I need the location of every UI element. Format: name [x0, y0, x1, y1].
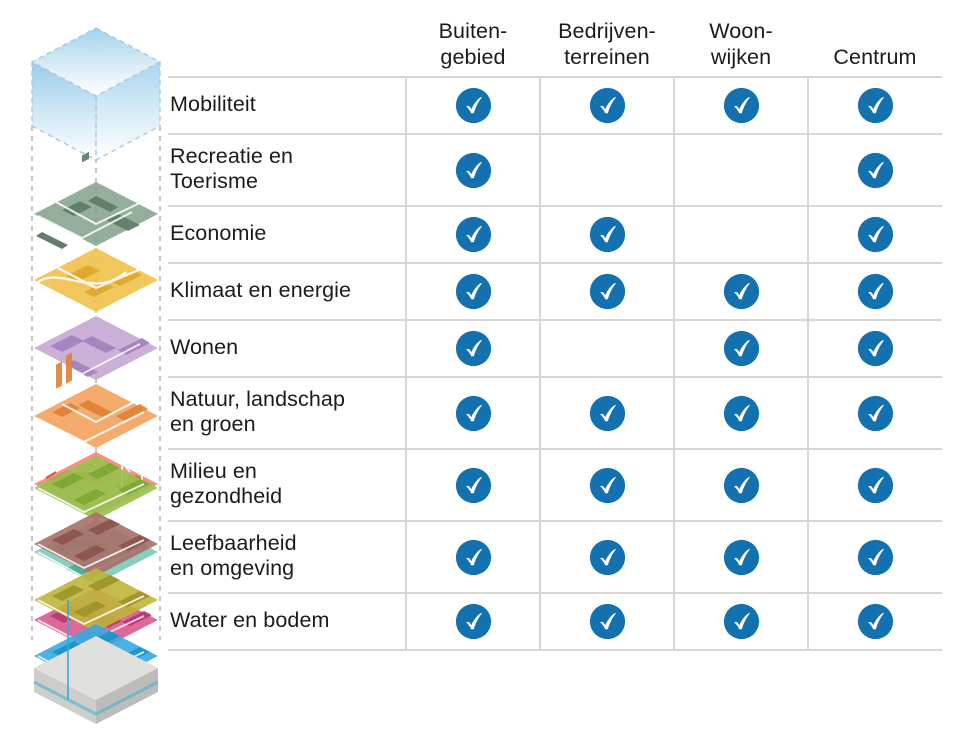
theme-row-label: Leefbaarheid en omgeving	[168, 521, 406, 593]
matrix-cell-checked[interactable]	[674, 449, 808, 521]
matrix-cell-checked[interactable]	[406, 134, 540, 206]
matrix-cell-checked[interactable]	[406, 206, 540, 263]
check-mark-icon	[857, 539, 894, 576]
theme-row-label: Mobiliteit	[168, 77, 406, 134]
column-header-centrum: Centrum	[808, 18, 942, 77]
check-mark-icon	[455, 216, 492, 253]
theme-row-label: Wonen	[168, 320, 406, 377]
matrix-cell-checked[interactable]	[406, 77, 540, 134]
table-row: Mobiliteit	[168, 77, 942, 134]
check-mark-icon	[455, 152, 492, 189]
column-header-buitengebied: Buiten- gebied	[406, 18, 540, 77]
layer-infrastructure	[34, 152, 158, 249]
check-mark-icon	[723, 467, 760, 504]
check-mark-icon	[455, 330, 492, 367]
themes-per-area-matrix: Buiten- gebied Bedrijven- terreinen Woon…	[168, 18, 942, 651]
matrix-cell-checked[interactable]	[540, 77, 674, 134]
column-header-label: Woon- wijken	[674, 18, 808, 70]
column-header-label: Centrum	[808, 44, 942, 70]
check-mark-icon	[589, 395, 626, 432]
matrix-cell-checked[interactable]	[540, 377, 674, 449]
isometric-layer-stack-diagram	[22, 0, 170, 732]
matrix-cell-checked[interactable]	[406, 263, 540, 320]
matrix-body: Mobiliteit Recreatie en Toerisme	[168, 77, 942, 650]
matrix-cell-checked[interactable]	[540, 449, 674, 521]
layer-recreation	[34, 248, 158, 312]
theme-row-label: Natuur, landschap en groen	[168, 377, 406, 449]
check-mark-icon	[455, 539, 492, 576]
check-mark-icon	[857, 603, 894, 640]
table-row: Economie	[168, 206, 942, 263]
matrix-cell-checked[interactable]	[808, 134, 942, 206]
table-row: Recreatie en Toerisme	[168, 134, 942, 206]
matrix-cell-checked[interactable]	[808, 77, 942, 134]
check-mark-icon	[589, 273, 626, 310]
check-mark-icon	[723, 603, 760, 640]
matrix-cell-checked[interactable]	[808, 263, 942, 320]
matrix-cell-empty[interactable]	[540, 320, 674, 377]
matrix-header: Buiten- gebied Bedrijven- terreinen Woon…	[168, 18, 942, 77]
check-mark-icon	[455, 395, 492, 432]
column-header-bedrijventerreinen: Bedrijven- terreinen	[540, 18, 674, 77]
check-mark-icon	[589, 216, 626, 253]
theme-row-label: Klimaat en energie	[168, 263, 406, 320]
check-mark-icon	[589, 87, 626, 124]
check-mark-icon	[589, 467, 626, 504]
matrix-cell-checked[interactable]	[540, 593, 674, 650]
matrix-cell-checked[interactable]	[674, 377, 808, 449]
matrix-cell-checked[interactable]	[540, 521, 674, 593]
matrix-cell-checked[interactable]	[674, 77, 808, 134]
check-mark-icon	[455, 273, 492, 310]
matrix-cell-checked[interactable]	[808, 377, 942, 449]
column-header-label: Bedrijven- terreinen	[540, 18, 674, 70]
matrix-cell-empty[interactable]	[540, 134, 674, 206]
table-row: Leefbaarheid en omgeving	[168, 521, 942, 593]
layer-green	[34, 655, 158, 719]
matrix-table: Buiten- gebied Bedrijven- terreinen Woon…	[168, 18, 942, 651]
layer-energy	[34, 452, 158, 516]
theme-row-label: Water en bodem	[168, 593, 406, 650]
check-mark-icon	[723, 539, 760, 576]
check-mark-icon	[857, 467, 894, 504]
layer-nature-urban	[34, 588, 158, 652]
check-mark-icon	[857, 216, 894, 253]
matrix-cell-empty[interactable]	[674, 206, 808, 263]
matrix-cell-checked[interactable]	[674, 521, 808, 593]
matrix-cell-checked[interactable]	[674, 320, 808, 377]
check-mark-icon	[857, 273, 894, 310]
matrix-cell-checked[interactable]	[808, 320, 942, 377]
matrix-cell-checked[interactable]	[406, 593, 540, 650]
check-mark-icon	[857, 330, 894, 367]
theme-row-label: Recreatie en Toerisme	[168, 134, 406, 206]
check-mark-icon	[723, 330, 760, 367]
matrix-cell-checked[interactable]	[406, 449, 540, 521]
check-mark-icon	[723, 395, 760, 432]
matrix-cell-checked[interactable]	[808, 521, 942, 593]
theme-row-label: Economie	[168, 206, 406, 263]
layer-housing	[34, 520, 158, 584]
theme-column-header	[168, 18, 406, 77]
column-header-label: Buiten- gebied	[406, 18, 540, 70]
check-mark-icon	[723, 273, 760, 310]
check-mark-icon	[589, 539, 626, 576]
theme-row-label: Milieu en gezondheid	[168, 449, 406, 521]
matrix-cell-checked[interactable]	[406, 521, 540, 593]
layer-buildings	[34, 316, 158, 380]
matrix-cell-checked[interactable]	[540, 263, 674, 320]
check-mark-icon	[455, 603, 492, 640]
matrix-cell-checked[interactable]	[674, 263, 808, 320]
table-row: Wonen	[168, 320, 942, 377]
matrix-cell-empty[interactable]	[674, 134, 808, 206]
table-row: Milieu en gezondheid	[168, 449, 942, 521]
infographic-page: Buiten- gebied Bedrijven- terreinen Woon…	[0, 0, 956, 732]
matrix-cell-checked[interactable]	[808, 449, 942, 521]
matrix-cell-checked[interactable]	[808, 206, 942, 263]
check-mark-icon	[857, 395, 894, 432]
check-mark-icon	[723, 87, 760, 124]
matrix-cell-checked[interactable]	[406, 377, 540, 449]
table-row: Water en bodem	[168, 593, 942, 650]
sky-cap	[32, 28, 160, 160]
matrix-cell-checked[interactable]	[540, 206, 674, 263]
check-mark-icon	[455, 87, 492, 124]
matrix-cell-checked[interactable]	[808, 593, 942, 650]
check-mark-icon	[589, 603, 626, 640]
table-row: Natuur, landschap en groen	[168, 377, 942, 449]
table-row: Klimaat en energie	[168, 263, 942, 320]
column-header-woonwijken: Woon- wijken	[674, 18, 808, 77]
matrix-cell-checked[interactable]	[674, 593, 808, 650]
check-mark-icon	[857, 152, 894, 189]
check-mark-icon	[857, 87, 894, 124]
matrix-cell-checked[interactable]	[406, 320, 540, 377]
check-mark-icon	[455, 467, 492, 504]
